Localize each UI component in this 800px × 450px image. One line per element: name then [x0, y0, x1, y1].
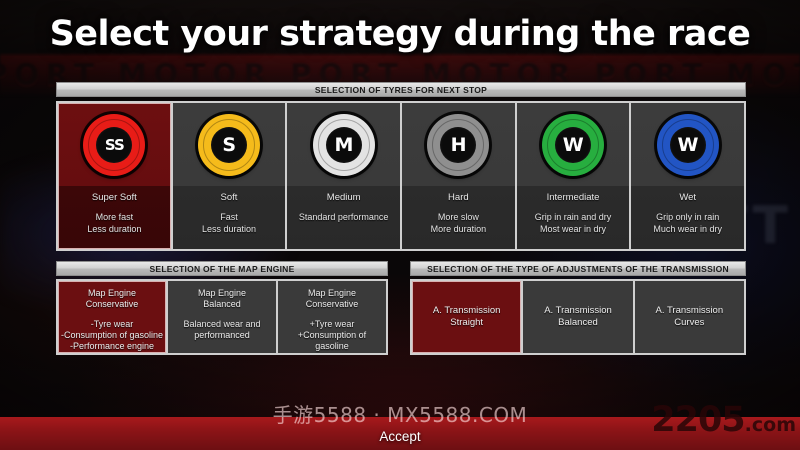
map-engine-detail-2: +Consumption of gasoline — [280, 330, 384, 352]
tyre-desc-line2: Much wear in dry — [635, 224, 740, 236]
tyre-code-label: W — [677, 136, 697, 155]
tyre-code-core: H — [440, 127, 476, 163]
tyre-card-hard[interactable]: H Hard More slow More duration — [402, 103, 517, 249]
map-engine-detail-1: -Tyre wear — [91, 319, 134, 330]
tyre-card-intermediate[interactable]: W Intermediate Grip in rain and dry Most… — [517, 103, 632, 249]
tyre-body: Wet Grip only in rain Much wear in dry — [631, 187, 744, 235]
tyre-desc-line1: Standard performance — [291, 212, 396, 224]
map-engine-card-balanced[interactable]: Map Engine Balanced Balanced wear and pe… — [168, 281, 278, 353]
transmission-title-line2: Curves — [674, 317, 704, 329]
map-engine-title-line1: Map Engine — [88, 288, 136, 299]
accept-button-label: Accept — [0, 429, 800, 444]
tyre-desc-line2: More duration — [406, 224, 511, 236]
game-strategy-screen: PORT MOTOR PORT MOTOR PORT MOTOR PORT TT… — [0, 0, 800, 450]
tyre-desc-line2: Less duration — [62, 224, 167, 236]
map-engine-title-line2: Balanced — [203, 299, 241, 310]
transmission-card-straight[interactable]: A. Transmission Straight — [412, 281, 523, 353]
tyre-code-core: W — [670, 127, 706, 163]
map-engine-section-header: SELECTION OF THE MAP ENGINE — [56, 261, 388, 276]
tyre-card-wet[interactable]: W Wet Grip only in rain Much wear in dry — [631, 103, 744, 249]
tyre-desc-line1: Grip in rain and dry — [521, 212, 626, 224]
transmission-title-line2: Balanced — [558, 317, 598, 329]
tyre-code-label: M — [334, 136, 352, 155]
tyre-selection-panel: SS Super Soft More fast Less duration S … — [56, 101, 746, 251]
transmission-title-line1: A. Transmission — [433, 305, 501, 317]
map-engine-detail-3: +Performance engine — [289, 352, 375, 353]
map-engine-detail-3: -Performance engine — [70, 341, 154, 352]
transmission-title-line1: A. Transmission — [656, 305, 724, 317]
map-engine-detail-1: +Tyre wear — [310, 319, 355, 330]
tyre-code-core: SS — [96, 127, 132, 163]
transmission-panel: A. Transmission Straight A. Transmission… — [410, 279, 746, 355]
map-engine-title-line1: Map Engine — [198, 288, 246, 299]
tyre-name: Super Soft — [62, 192, 167, 203]
tyre-name: Soft — [177, 192, 282, 203]
tyre-desc-line2: Most wear in dry — [521, 224, 626, 236]
tyre-card-soft[interactable]: S Soft Fast Less duration — [173, 103, 288, 249]
tyre-code-label: H — [451, 136, 466, 155]
tyre-name: Medium — [291, 192, 396, 203]
tyre-code-label: SS — [105, 138, 124, 153]
tyre-body: Super Soft More fast Less duration — [58, 187, 171, 235]
map-engine-detail-1: Balanced wear and — [183, 319, 260, 330]
tyre-icon-wrap: SS — [58, 103, 171, 187]
tyre-body: Intermediate Grip in rain and dry Most w… — [517, 187, 630, 235]
tyre-wet-icon: W — [657, 114, 719, 176]
tyre-desc-line1: Fast — [177, 212, 282, 224]
transmission-section-header: SELECTION OF THE TYPE OF ADJUSTMENTS OF … — [410, 261, 746, 276]
map-engine-title-line2: Conservative — [306, 299, 359, 310]
tyre-icon-wrap: M — [287, 103, 400, 187]
tyre-hard-icon: H — [427, 114, 489, 176]
map-engine-card-aggressive[interactable]: Map Engine Conservative +Tyre wear +Cons… — [278, 281, 386, 353]
tyre-card-medium[interactable]: M Medium Standard performance — [287, 103, 402, 249]
map-engine-detail-2: -Consumption of gasoline — [61, 330, 163, 341]
map-engine-title-line2: Conservative — [86, 299, 139, 310]
tyre-code-core: W — [555, 127, 591, 163]
tyre-icon-wrap: W — [631, 103, 744, 187]
tyre-desc-line1: More fast — [62, 212, 167, 224]
tyre-desc-line1: More slow — [406, 212, 511, 224]
transmission-card-balanced[interactable]: A. Transmission Balanced — [523, 281, 634, 353]
tyre-body: Medium Standard performance — [287, 187, 400, 224]
tyre-code-core: S — [211, 127, 247, 163]
tyre-soft-icon: S — [198, 114, 260, 176]
map-engine-panel: Map Engine Conservative -Tyre wear -Cons… — [56, 279, 388, 355]
tyre-icon-wrap: H — [402, 103, 515, 187]
map-engine-card-conservative[interactable]: Map Engine Conservative -Tyre wear -Cons… — [58, 281, 168, 353]
tyre-card-super-soft[interactable]: SS Super Soft More fast Less duration — [58, 103, 173, 249]
map-engine-title-line1: Map Engine — [308, 288, 356, 299]
tyre-code-label: S — [222, 136, 235, 155]
tyre-name: Intermediate — [521, 192, 626, 203]
page-title: Select your strategy during the race — [0, 14, 800, 54]
tyre-body: Hard More slow More duration — [402, 187, 515, 235]
tyre-desc-line2: Less duration — [177, 224, 282, 236]
tyre-name: Wet — [635, 192, 740, 203]
tyre-supersoft-icon: SS — [83, 114, 145, 176]
tyre-medium-icon: M — [313, 114, 375, 176]
transmission-title-line1: A. Transmission — [544, 305, 612, 317]
tyre-desc-line1: Grip only in rain — [635, 212, 740, 224]
tyre-code-label: W — [563, 136, 583, 155]
tyre-intermediate-icon: W — [542, 114, 604, 176]
tyres-section-header: SELECTION OF TYRES FOR NEXT STOP — [56, 82, 746, 97]
map-engine-detail-2: performanced — [194, 330, 250, 341]
tyre-body: Soft Fast Less duration — [173, 187, 286, 235]
tyre-icon-wrap: W — [517, 103, 630, 187]
transmission-title-line2: Straight — [450, 317, 483, 329]
tyre-code-core: M — [326, 127, 362, 163]
tyre-icon-wrap: S — [173, 103, 286, 187]
tyre-name: Hard — [406, 192, 511, 203]
transmission-card-curves[interactable]: A. Transmission Curves — [635, 281, 744, 353]
